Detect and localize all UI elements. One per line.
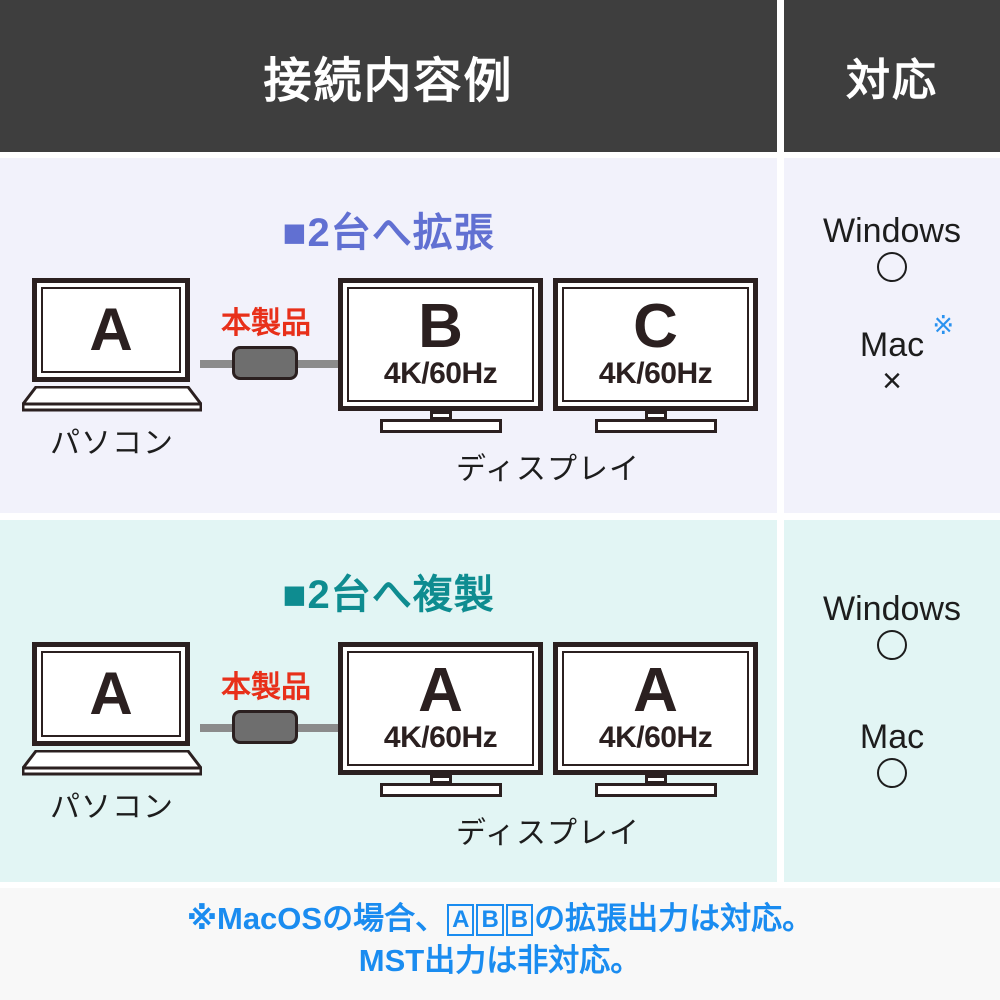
monitor-stand xyxy=(553,775,758,797)
monitor-resolution: 4K/60Hz xyxy=(599,359,712,389)
laptop-base xyxy=(22,386,202,412)
monitor-screen-letter: B xyxy=(418,298,463,357)
support-mark-cross: × xyxy=(784,364,1000,398)
laptop-screen: A xyxy=(32,642,190,746)
monitor-icon: B 4K/60Hz xyxy=(338,278,543,430)
table-header: 接続内容例 対応 xyxy=(0,0,1000,152)
laptop-base xyxy=(22,750,202,776)
monitor-screen-inner: C 4K/60Hz xyxy=(562,287,749,402)
monitor-stand xyxy=(553,411,758,433)
monitor-icon: A 4K/60Hz xyxy=(553,642,758,794)
monitor-icon: A 4K/60Hz xyxy=(338,642,543,794)
monitor-screen: C 4K/60Hz xyxy=(553,278,758,411)
monitor-screen-inner: B 4K/60Hz xyxy=(347,287,534,402)
boxed-letter-b2: B xyxy=(506,904,533,936)
footnote-line-1: ※MacOSの場合、ABBの拡張出力は対応。 xyxy=(0,898,1000,940)
support-os-text: Mac xyxy=(860,326,924,364)
footnote-line1-before: ※MacOSの場合、 xyxy=(187,901,446,936)
monitor-stand-foot xyxy=(595,419,717,433)
monitor-screen-inner: A 4K/60Hz xyxy=(347,651,534,766)
laptop-label: パソコン xyxy=(12,782,212,826)
support-os-label: Windows xyxy=(823,214,961,250)
monitor-resolution: 4K/60Hz xyxy=(384,723,497,753)
laptop-base-shape xyxy=(22,386,202,412)
support-os-label: Windows xyxy=(823,592,961,628)
support-windows-extend: Windows xyxy=(784,214,1000,290)
header-cell-support: 対応 xyxy=(784,0,1000,152)
row-extend-support-cell: Windows Mac※ × xyxy=(784,158,1000,513)
support-os-label-mac: Mac※ xyxy=(860,328,924,364)
support-os-label-mac: Mac xyxy=(860,720,924,756)
monitor-screen: B 4K/60Hz xyxy=(338,278,543,411)
support-mark-circle xyxy=(784,252,1000,290)
laptop-screen-inner: A xyxy=(41,651,181,737)
footnote-line-2: MST出力は非対応。 xyxy=(0,940,1000,982)
table-row: ■2台へ複製 A パソコン xyxy=(0,520,1000,882)
support-mark-circle xyxy=(784,630,1000,668)
boxed-letter-b1: B xyxy=(476,904,503,936)
support-mac-mirror: Mac xyxy=(784,720,1000,796)
circle-icon xyxy=(877,252,907,282)
boxed-letter-a: A xyxy=(447,904,474,936)
diagram-extend: A パソコン 本製品 xyxy=(0,278,777,493)
monitor-screen: A 4K/60Hz xyxy=(338,642,543,775)
header-title-connection-examples: 接続内容例 xyxy=(263,41,513,111)
laptop-screen-inner: A xyxy=(41,287,181,373)
laptop-icon: A パソコン xyxy=(22,642,202,792)
monitor-stand-foot xyxy=(595,783,717,797)
laptop-base-shape xyxy=(22,750,202,776)
laptop-screen: A xyxy=(32,278,190,382)
product-tag-label: 本製品 xyxy=(206,298,326,342)
displays-label: ディスプレイ xyxy=(338,808,758,852)
circle-icon xyxy=(877,630,907,660)
monitor-stand-foot xyxy=(380,419,502,433)
monitor-stand xyxy=(338,775,543,797)
row-mirror-support-cell: Windows Mac xyxy=(784,520,1000,882)
circle-icon xyxy=(877,758,907,788)
header-cell-connection-examples: 接続内容例 xyxy=(0,0,777,152)
footnote-area: ※MacOSの場合、ABBの拡張出力は対応。 MST出力は非対応。 xyxy=(0,888,1000,1000)
section-title-extend: ■2台へ拡張 xyxy=(0,200,777,258)
support-windows-mirror: Windows xyxy=(784,592,1000,668)
monitor-screen-letter: A xyxy=(418,662,463,721)
section-title-mirror: ■2台へ複製 xyxy=(0,562,777,620)
support-mac-extend: Mac※ × xyxy=(784,328,1000,398)
header-title-support: 対応 xyxy=(846,44,938,108)
reference-mark-icon: ※ xyxy=(932,312,954,339)
footnote-line1-after: の拡張出力は対応。 xyxy=(534,901,813,936)
monitor-stand xyxy=(338,411,543,433)
monitor-resolution: 4K/60Hz xyxy=(599,723,712,753)
monitor-screen: A 4K/60Hz xyxy=(553,642,758,775)
table-row: ■2台へ拡張 A パソコン xyxy=(0,158,1000,513)
monitor-stand-foot xyxy=(380,783,502,797)
product-tag-label: 本製品 xyxy=(206,662,326,706)
monitor-screen-inner: A 4K/60Hz xyxy=(562,651,749,766)
monitor-screen-letter: C xyxy=(633,298,678,357)
laptop-label: パソコン xyxy=(12,418,212,462)
adapter-dongle-icon xyxy=(232,710,298,744)
monitor-screen-letter: A xyxy=(633,662,678,721)
row-extend-diagram-cell: ■2台へ拡張 A パソコン xyxy=(0,158,777,513)
adapter-dongle-icon xyxy=(232,346,298,380)
support-mark-circle xyxy=(784,758,1000,796)
diagram-mirror: A パソコン 本製品 xyxy=(0,642,777,857)
monitor-icon: C 4K/60Hz xyxy=(553,278,758,430)
row-mirror-diagram-cell: ■2台へ複製 A パソコン xyxy=(0,520,777,882)
laptop-screen-letter: A xyxy=(89,300,132,360)
displays-label: ディスプレイ xyxy=(338,444,758,488)
comparison-table: 接続内容例 対応 ■2台へ拡張 A xyxy=(0,0,1000,1000)
monitor-resolution: 4K/60Hz xyxy=(384,359,497,389)
laptop-screen-letter: A xyxy=(89,664,132,724)
laptop-icon: A パソコン xyxy=(22,278,202,428)
footnote-text: ※MacOSの場合、ABBの拡張出力は対応。 MST出力は非対応。 xyxy=(0,898,1000,982)
